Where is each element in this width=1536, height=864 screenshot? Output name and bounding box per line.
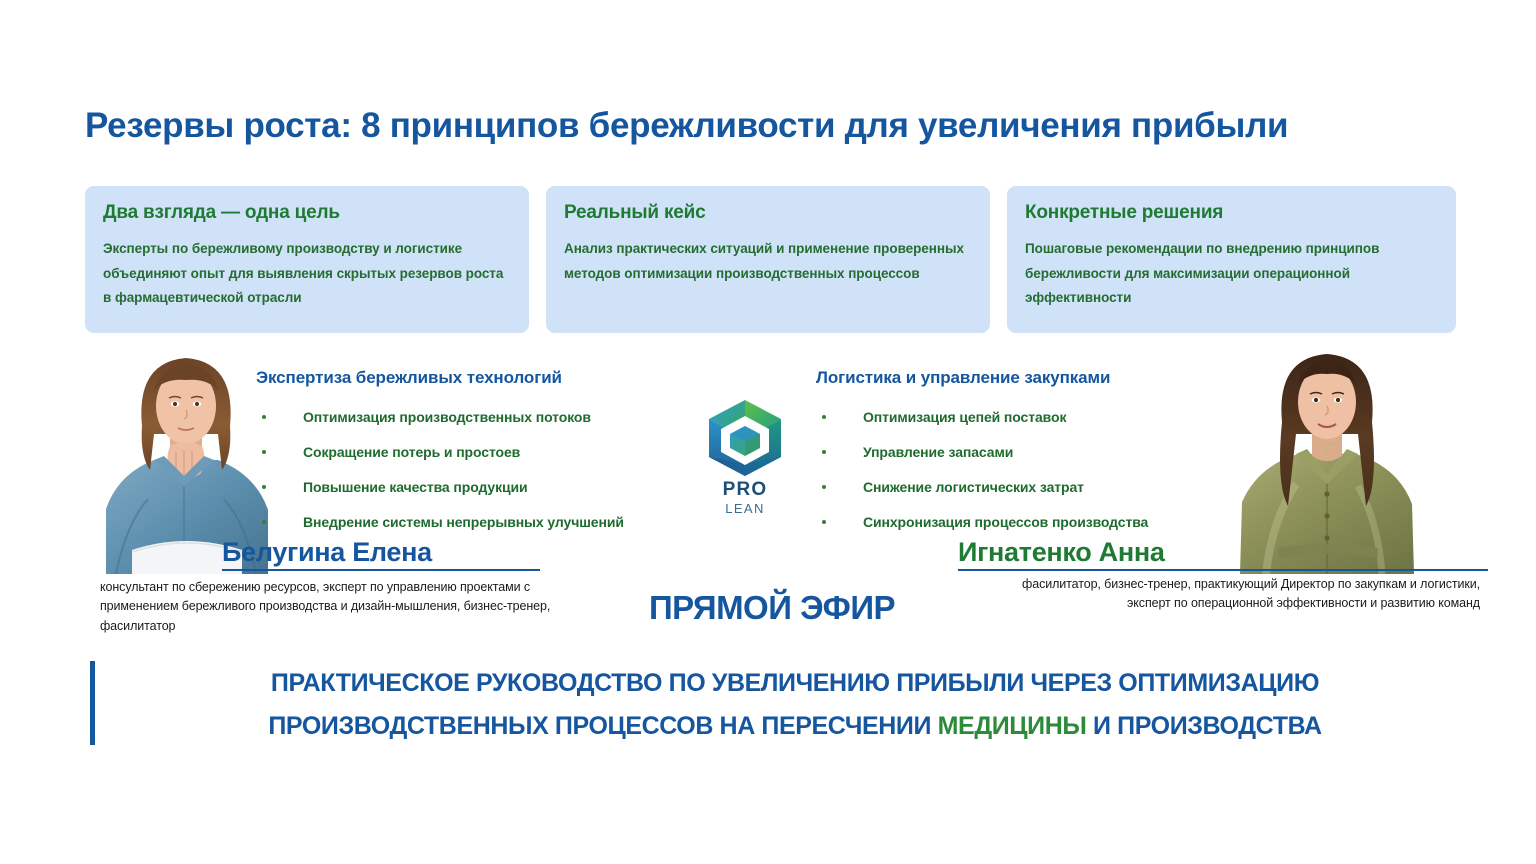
presenter-name-block-ignatenko: Игнатенко Анна [958, 538, 1488, 571]
info-card-title: Реальный кейс [564, 202, 972, 224]
banner-line-2-part2: И ПРОИЗВОДСТВА [1086, 712, 1321, 740]
expertise-title: Экспертиза бережливых технологий [256, 368, 686, 388]
presenter-name: Игнатенко Анна [958, 538, 1488, 566]
list-item: Оптимизация производственных потоков [256, 409, 686, 425]
list-item-label: Управление запасами [863, 444, 1013, 460]
list-item: Повышение качества продукции [256, 479, 686, 495]
list-item-label: Внедрение системы непрерывных улучшений [303, 514, 624, 530]
list-item: Внедрение системы непрерывных улучшений [256, 514, 686, 530]
list-item: Сокращение потерь и простоев [256, 444, 686, 460]
expertise-block-lean: Экспертиза бережливых технологий Оптимиз… [256, 368, 686, 549]
presenter-name: Белугина Елена [222, 538, 542, 566]
prolean-logo: PRO LEAN [686, 398, 804, 520]
bottom-banner: ПРАКТИЧЕСКОЕ РУКОВОДСТВО ПО УВЕЛИЧЕНИЮ П… [120, 662, 1470, 748]
info-card-body: Эксперты по бережливому производству и л… [103, 237, 511, 311]
list-item-label: Оптимизация цепей поставок [863, 409, 1066, 425]
live-broadcast-label: ПРЯМОЙ ЭФИР [622, 589, 922, 627]
bullet-icon [262, 485, 266, 489]
name-underline [222, 569, 540, 571]
info-card-title: Конкретные решения [1025, 202, 1438, 224]
expertise-block-logistics: Логистика и управление закупками Оптимиз… [816, 368, 1216, 549]
expertise-title: Логистика и управление закупками [816, 368, 1216, 388]
info-card-row: Два взгляда — одна цель Эксперты по бере… [85, 186, 1456, 333]
list-item: Снижение логистических затрат [816, 479, 1216, 495]
list-item-label: Синхронизация процессов производства [863, 514, 1148, 530]
list-item-label: Повышение качества продукции [303, 479, 528, 495]
banner-line-2-highlight: МЕДИЦИНЫ [938, 712, 1087, 740]
logo-text-pro: PRO [686, 480, 804, 499]
bullet-icon [262, 520, 266, 524]
bullet-icon [822, 415, 826, 419]
info-card-body: Анализ практических ситуаций и применени… [564, 237, 972, 286]
list-item-label: Оптимизация производственных потоков [303, 409, 591, 425]
banner-line-2: ПРОИЗВОДСТВЕННЫХ ПРОЦЕССОВ НА ПЕРЕСЧЕНИИ… [120, 705, 1470, 748]
info-card-title: Два взгляда — одна цель [103, 202, 511, 224]
hexagon-prolean-icon [701, 398, 789, 478]
list-item-label: Снижение логистических затрат [863, 479, 1084, 495]
list-item: Синхронизация процессов производства [816, 514, 1216, 530]
logo-text-lean: LEAN [686, 502, 804, 515]
banner-line-2-part1: ПРОИЗВОДСТВЕННЫХ ПРОЦЕССОВ НА ПЕРЕСЧЕНИИ [268, 712, 937, 740]
info-card-real-case: Реальный кейс Анализ практических ситуац… [546, 186, 990, 333]
page-title: Резервы роста: 8 принципов бережливости … [85, 106, 1465, 146]
presenter-name-block-belugina: Белугина Елена [222, 538, 542, 571]
info-card-two-views: Два взгляда — одна цель Эксперты по бере… [85, 186, 529, 333]
info-card-concrete-solutions: Конкретные решения Пошаговые рекомендаци… [1007, 186, 1456, 333]
info-card-body: Пошаговые рекомендации по внедрению прин… [1025, 237, 1438, 311]
slide-root: Резервы роста: 8 принципов бережливости … [0, 0, 1536, 864]
bullet-icon [822, 485, 826, 489]
bullet-icon [262, 415, 266, 419]
name-underline [958, 569, 1488, 571]
banner-accent-bar [90, 661, 95, 745]
presenter-bio: консультант по сбережению ресурсов, эксп… [100, 578, 560, 636]
presenter-bio: фасилитатор, бизнес-тренер, практикующий… [1000, 575, 1480, 614]
banner-line-1: ПРАКТИЧЕСКОЕ РУКОВОДСТВО ПО УВЕЛИЧЕНИЮ П… [120, 662, 1470, 705]
bullet-icon [822, 450, 826, 454]
list-item-label: Сокращение потерь и простоев [303, 444, 520, 460]
list-item: Оптимизация цепей поставок [816, 409, 1216, 425]
bullet-icon [262, 450, 266, 454]
bullet-icon [822, 520, 826, 524]
expertise-list: Оптимизация производственных потоков Сок… [256, 409, 686, 530]
list-item: Управление запасами [816, 444, 1216, 460]
expertise-list: Оптимизация цепей поставок Управление за… [816, 409, 1216, 530]
